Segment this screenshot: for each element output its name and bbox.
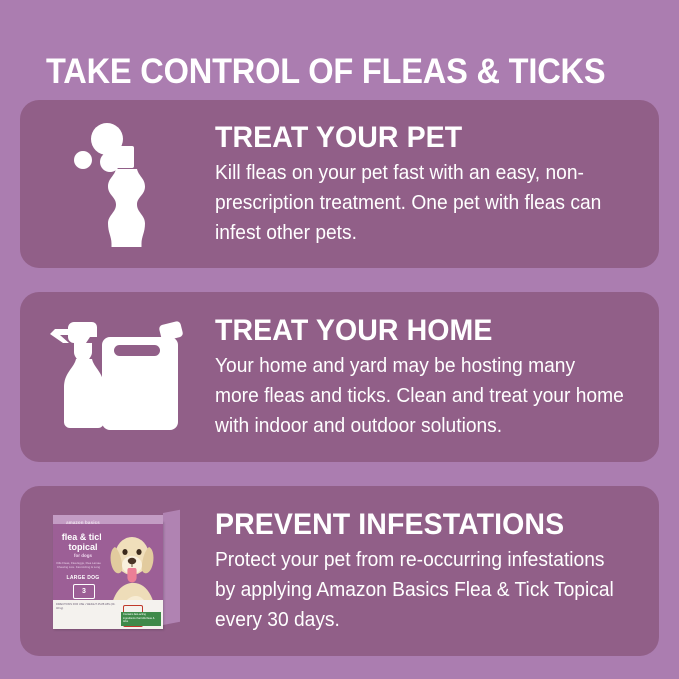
card-body: Kill fleas on your pet fast with an easy…	[215, 158, 624, 248]
card-treat-your-home[interactable]: TREAT YOUR HOME Your home and yard may b…	[20, 292, 659, 462]
card-heading: TREAT YOUR PET	[215, 121, 620, 155]
product-brand: amazon basics	[55, 520, 111, 525]
icon-slot	[20, 100, 215, 268]
card-body: Your home and yard may be hosting many m…	[215, 351, 624, 441]
spray-bottle-and-jug-icon	[50, 317, 185, 437]
card-body: Protect your pet from re-occurring infes…	[215, 545, 624, 635]
product-count-badge: 3	[73, 584, 95, 599]
page-title: TAKE CONTROL OF FLEAS & TICKS	[46, 51, 604, 93]
product-green-label: Contains fast-acting ingredients that ki…	[121, 612, 161, 626]
card-list: TREAT YOUR PET Kill fleas on your pet fa…	[20, 100, 659, 656]
icon-slot	[20, 292, 215, 462]
product-box-image: amazon basics flea & tick topical for do…	[45, 507, 190, 635]
card-heading: PREVENT INFESTATIONS	[215, 508, 620, 542]
product-directions: DIRECTIONS FOR USE • WEIGHT 45-88 LBS (2…	[56, 603, 118, 610]
product-box-side	[163, 510, 180, 625]
card-treat-your-pet[interactable]: TREAT YOUR PET Kill fleas on your pet fa…	[20, 100, 659, 268]
text-slot: TREAT YOUR HOME Your home and yard may b…	[215, 314, 659, 441]
text-slot: PREVENT INFESTATIONS Protect your pet fr…	[215, 508, 659, 635]
product-bottom-strip: DIRECTIONS FOR USE • WEIGHT 45-88 LBS (2…	[53, 600, 163, 629]
shampoo-bottle-bubbles-icon	[63, 122, 173, 247]
flea-tick-infographic: TAKE CONTROL OF FLEAS & TICKS TREAT YOUR…	[0, 0, 679, 679]
card-prevent-infestations[interactable]: amazon basics flea & tick topical for do…	[20, 486, 659, 656]
card-heading: TREAT YOUR HOME	[215, 314, 620, 348]
text-slot: TREAT YOUR PET Kill fleas on your pet fa…	[215, 121, 659, 248]
icon-slot: amazon basics flea & tick topical for do…	[20, 486, 215, 656]
